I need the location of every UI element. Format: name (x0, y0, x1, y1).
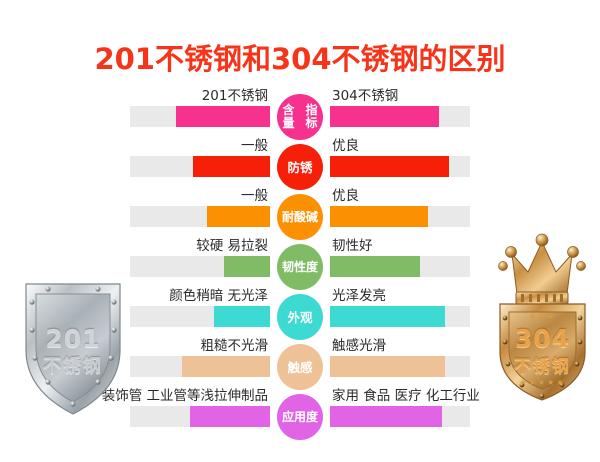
bar-fill-left (224, 256, 270, 277)
row-left-label: 粗糙不光滑 (201, 339, 269, 354)
bar-track-left (130, 306, 270, 327)
bar-track-right (330, 206, 470, 227)
row-right-label: 光泽发亮 (332, 289, 386, 304)
bar-fill-left (214, 306, 270, 327)
criteria-badge-line: 含量 (277, 104, 300, 130)
shield-304-number: 304 (490, 324, 595, 353)
row-right-label: 家用 食品 医疗 化工行业 (332, 389, 480, 404)
bar-track-left (130, 106, 270, 127)
bar-track-right (330, 406, 470, 427)
row-right-label: 触感光滑 (332, 339, 386, 354)
bar-fill-left (207, 206, 270, 227)
bar-fill-left (190, 406, 270, 427)
row-right-label: 优良 (332, 139, 359, 154)
row-right-label: 304不锈钢 (332, 89, 398, 104)
bar-track-left (130, 206, 270, 227)
criteria-badge[interactable]: 含量指标 (277, 94, 323, 140)
bar-fill-right (330, 156, 449, 177)
comparison-row: 一般优良防锈 (0, 138, 600, 188)
shield-201: 201 不锈钢 (18, 272, 128, 422)
bar-track-right (330, 106, 470, 127)
criteria-badge[interactable]: 耐酸碱 (277, 194, 323, 240)
shield-304-stars-top: ★★★ (490, 312, 595, 321)
criteria-badge-line: 韧性度 (282, 261, 318, 274)
bar-fill-right (330, 106, 439, 127)
comparison-row: 201不锈钢304不锈钢含量指标 (0, 88, 600, 138)
criteria-badge-line: 耐酸碱 (282, 211, 318, 224)
shield-201-number: 201 (18, 324, 128, 353)
bar-track-right (330, 256, 470, 277)
bar-track-left (130, 156, 270, 177)
criteria-badge[interactable]: 韧性度 (277, 244, 323, 290)
shield-201-label: 不锈钢 (18, 352, 128, 378)
bar-fill-left (193, 156, 270, 177)
bar-track-left (130, 406, 270, 427)
page-title: 201不锈钢和304不锈钢的区别 (0, 36, 600, 78)
bar-fill-right (330, 206, 428, 227)
shield-304-label: 不锈钢 (490, 352, 595, 377)
criteria-badge[interactable]: 触感 (277, 344, 323, 390)
criteria-badge-line: 防锈 (287, 161, 312, 174)
row-left-label: 颜色稍暗 无光泽 (169, 289, 268, 304)
criteria-badge-line: 外观 (287, 311, 312, 324)
bar-track-right (330, 356, 470, 377)
row-left-label: 一般 (241, 189, 268, 204)
row-left-label: 一般 (241, 139, 268, 154)
bar-track-right (330, 306, 470, 327)
bar-fill-left (182, 356, 270, 377)
infographic-canvas: 201不锈钢和304不锈钢的区别 201不锈钢304不锈钢含量指标一般优良防锈一… (0, 0, 600, 462)
criteria-badge[interactable]: 防锈 (277, 144, 323, 190)
criteria-badge-line: 应用度 (282, 411, 318, 424)
row-left-label: 较硬 易拉裂 (196, 239, 268, 254)
bar-fill-right (330, 256, 420, 277)
bar-track-left (130, 356, 270, 377)
bar-fill-right (330, 406, 442, 427)
shield-304-stars-bottom: ★★★★★ (490, 378, 595, 387)
bar-track-left (130, 256, 270, 277)
row-left-label: 201不锈钢 (202, 89, 268, 104)
row-right-label: 韧性好 (332, 239, 373, 254)
bar-fill-left (176, 106, 270, 127)
bar-fill-right (330, 306, 445, 327)
shield-304: ★★★ 304 不锈钢 ★★★★★ (490, 228, 595, 403)
criteria-badge[interactable]: 外观 (277, 294, 323, 340)
bar-fill-right (330, 356, 445, 377)
criteria-badge[interactable]: 应用度 (277, 394, 323, 440)
bar-track-right (330, 156, 470, 177)
criteria-badge-line: 触感 (287, 361, 312, 374)
row-right-label: 优良 (332, 189, 359, 204)
criteria-badge-line: 指标 (300, 104, 323, 130)
